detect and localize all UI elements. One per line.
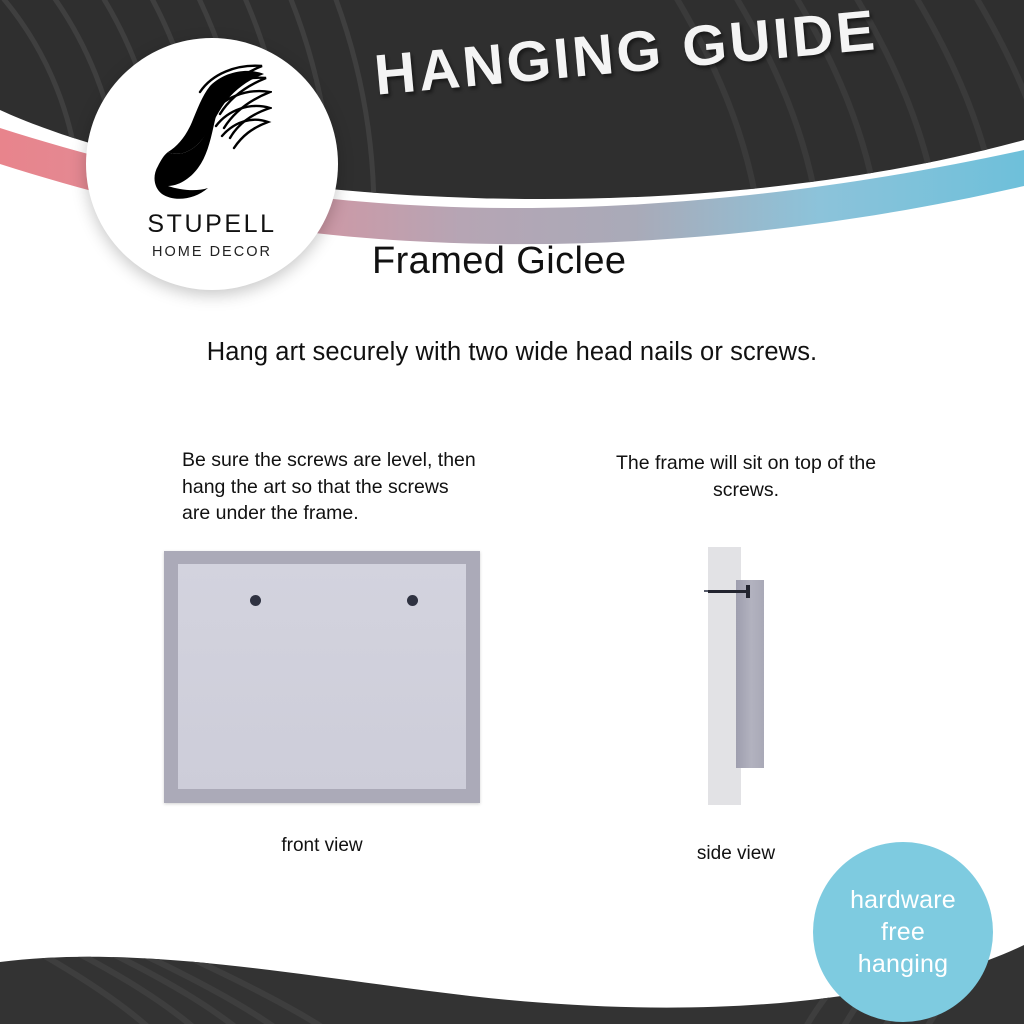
side-view-label: side view bbox=[636, 843, 836, 865]
front-view-art-panel bbox=[178, 564, 466, 789]
side-view-frame bbox=[736, 580, 764, 768]
hardware-free-badge: hardware free hanging bbox=[813, 842, 993, 1022]
badge-line-3: hanging bbox=[858, 948, 948, 980]
hanging-guide-page: HANGING GUIDE STUPELL HOME DECOR Framed … bbox=[0, 0, 1024, 1024]
logo-wordmark: STUPELL bbox=[86, 210, 338, 239]
stupell-swoosh-icon bbox=[152, 60, 272, 208]
side-view-caption: The frame will sit on top of the screws. bbox=[600, 450, 892, 503]
logo-badge: STUPELL HOME DECOR bbox=[86, 38, 338, 290]
screw-shaft-icon bbox=[708, 590, 748, 593]
badge-line-1: hardware bbox=[850, 884, 956, 916]
product-type-heading: Framed Giclee bbox=[372, 240, 626, 283]
front-view-diagram bbox=[164, 551, 480, 803]
logo-tagline: HOME DECOR bbox=[86, 244, 338, 260]
screw-head-icon bbox=[746, 585, 750, 598]
lead-instruction: Hang art securely with two wide head nai… bbox=[0, 338, 1024, 367]
screw-dot-left bbox=[250, 595, 261, 606]
badge-line-2: free bbox=[881, 916, 925, 948]
side-view-diagram bbox=[690, 545, 800, 807]
front-view-label: front view bbox=[222, 835, 422, 857]
front-view-caption: Be sure the screws are level, then hang … bbox=[182, 447, 482, 527]
screw-dot-right bbox=[407, 595, 418, 606]
